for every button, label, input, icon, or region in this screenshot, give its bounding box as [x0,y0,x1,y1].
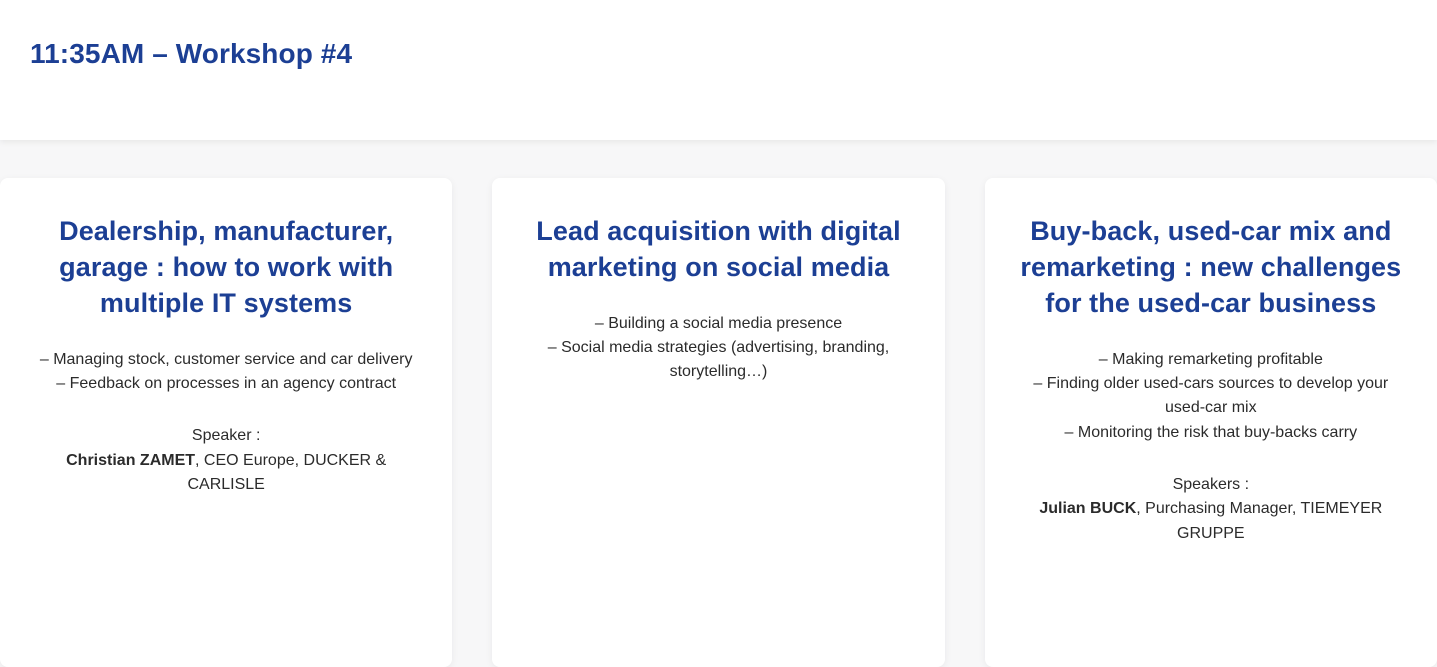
card-bullet-list: – Making remarketing profitable – Findin… [1019,348,1403,445]
card-bullet-list: – Building a social media presence – Soc… [526,312,910,385]
card-title: Dealership, manufacturer, garage : how t… [34,214,418,322]
speaker-name: Julian BUCK [1039,500,1136,517]
speakers-label: Speaker : [34,424,418,448]
speaker-role: , Purchasing Manager, TIEMEYER GRUPPE [1136,500,1382,541]
speaker-role: , CEO Europe, DUCKER & CARLISLE [187,452,386,493]
bullet-item: – Managing stock, customer service and c… [34,348,418,372]
workshop-card-2: Lead acquisition with digital marketing … [492,178,944,667]
workshop-card-3: Buy-back, used-car mix and remarketing :… [985,178,1437,667]
page-header: 11:35AM – Workshop #4 [0,0,1437,140]
speaker-entry: Christian ZAMET, CEO Europe, DUCKER & CA… [34,449,418,498]
speaker-block: Speaker : Christian ZAMET, CEO Europe, D… [34,424,418,497]
card-title: Buy-back, used-car mix and remarketing :… [1019,214,1403,322]
card-title: Lead acquisition with digital marketing … [526,214,910,286]
speakers-label: Speakers : [1019,473,1403,497]
bullet-item: – Finding older used-cars sources to dev… [1019,372,1403,421]
page-title: 11:35AM – Workshop #4 [30,38,352,70]
bullet-item: – Monitoring the risk that buy-backs car… [1019,421,1403,445]
bullet-item: – Social media strategies (advertising, … [526,336,910,385]
speaker-name: Christian ZAMET [66,452,195,469]
workshop-card-1: Dealership, manufacturer, garage : how t… [0,178,452,667]
bullet-item: – Making remarketing profitable [1019,348,1403,372]
workshop-cards-row: Dealership, manufacturer, garage : how t… [0,178,1437,667]
speaker-block: Speakers : Julian BUCK, Purchasing Manag… [1019,473,1403,546]
card-bullet-list: – Managing stock, customer service and c… [34,348,418,397]
bullet-item: – Building a social media presence [526,312,910,336]
speaker-entry: Julian BUCK, Purchasing Manager, TIEMEYE… [1019,497,1403,546]
bullet-item: – Feedback on processes in an agency con… [34,372,418,396]
